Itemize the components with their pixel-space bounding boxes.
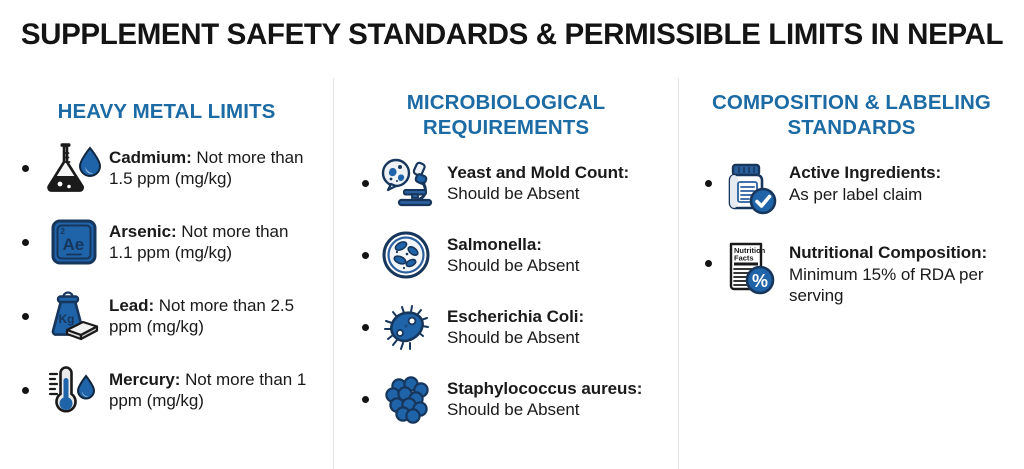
list-item: Staphylococcus aureus: Should be Absent (334, 373, 678, 425)
bullet-icon (22, 313, 29, 320)
list-item-value: Minimum 15% of RDA per serving (789, 265, 983, 306)
bullet-icon (22, 387, 29, 394)
list-item: Escherichia Coli: Should be Absent (334, 301, 678, 353)
list-item-label: Arsenic: (109, 222, 177, 241)
list-item: Nutrition Facts % Nutrition (679, 238, 1024, 307)
nutrition-facts-line2-text: Facts (734, 254, 754, 263)
column-heading-heavy-metal-limits: HEAVY METAL LIMITS (0, 90, 333, 124)
weight-ingot-icon: Kg (40, 288, 102, 344)
arsenic-symbol-text: Ae (63, 235, 85, 254)
list-item-text: Salmonella: Should be Absent (447, 234, 661, 277)
list-item: Salmonella: Should be Absent (334, 229, 678, 281)
list-item-label: Cadmium: (109, 148, 192, 167)
list-item-value: Should be Absent (447, 400, 579, 419)
list-item: Active Ingredients: As per label claim (679, 158, 1024, 216)
page-title: SUPPLEMENT SAFETY STANDARDS & PERMISSIBL… (8, 18, 1017, 52)
bullet-icon (705, 260, 712, 267)
list-item-label: Salmonella: (447, 235, 542, 254)
list-item-value: Should be Absent (447, 328, 579, 347)
bullet-icon (362, 252, 369, 259)
list-item-label: Mercury: (109, 370, 180, 389)
list-item: Cadmium: Not more than 1.5 ppm (mg/kg) (0, 140, 333, 196)
list-item: Mercury: Not more than 1 ppm (mg/kg) (0, 362, 333, 418)
ecoli-bacterium-icon (379, 301, 439, 353)
weight-unit-text: Kg (59, 312, 75, 326)
column-heading-composition-labeling-standards: COMPOSITION & LABELING STANDARDS (679, 90, 1024, 140)
list-item-text: Arsenic: Not more than 1.1 ppm (mg/kg) (109, 221, 315, 264)
composition-list: Active Ingredients: As per label claim N… (679, 158, 1024, 307)
list-item-label: Staphylococcus aureus: (447, 379, 642, 398)
column-microbiological-requirements: MICROBIOLOGICAL REQUIREMENTS (333, 78, 678, 469)
microbiological-list: Yeast and Mold Count: Should be Absent (334, 157, 678, 425)
supplement-bottle-check-icon (722, 158, 780, 216)
list-item: Kg Lead: Not more than 2.5 ppm (mg/kg) (0, 288, 333, 344)
staphylococcus-cluster-icon (379, 373, 439, 425)
list-item-label: Active Ingredients: (789, 163, 941, 182)
bullet-icon (362, 396, 369, 403)
list-item-value: Should be Absent (447, 184, 579, 203)
flask-droplet-icon (40, 140, 102, 196)
bullet-icon (362, 180, 369, 187)
column-heading-microbiological-requirements: MICROBIOLOGICAL REQUIREMENTS (334, 90, 678, 140)
list-item: Yeast and Mold Count: Should be Absent (334, 157, 678, 209)
column-composition-labeling-standards: COMPOSITION & LABELING STANDARDS (678, 78, 1024, 469)
list-item-text: Mercury: Not more than 1 ppm (mg/kg) (109, 369, 315, 412)
bullet-icon (22, 165, 29, 172)
column-heavy-metal-limits: HEAVY METAL LIMITS (0, 78, 333, 469)
bullet-icon (705, 180, 712, 187)
list-item-text: Nutritional Composition: Minimum 15% of … (789, 238, 1005, 307)
percent-symbol-text: % (752, 271, 768, 291)
bullet-icon (22, 239, 29, 246)
bullet-icon (362, 324, 369, 331)
list-item-text: Escherichia Coli: Should be Absent (447, 306, 661, 349)
list-item-text: Active Ingredients: As per label claim (789, 158, 1005, 205)
list-item-text: Staphylococcus aureus: Should be Absent (447, 378, 661, 421)
heavy-metal-list: Cadmium: Not more than 1.5 ppm (mg/kg) 2… (0, 140, 333, 418)
list-item-label: Escherichia Coli: (447, 307, 584, 326)
list-item-value: Should be Absent (447, 256, 579, 275)
list-item: 2 Ae Arsenic: Not more than 1.1 ppm (mg/… (0, 214, 333, 270)
list-item-text: Cadmium: Not more than 1.5 ppm (mg/kg) (109, 147, 315, 190)
microscope-icon (379, 157, 439, 209)
list-item-text: Lead: Not more than 2.5 ppm (mg/kg) (109, 295, 315, 338)
thermometer-droplet-icon (40, 362, 102, 418)
nutrition-facts-percent-icon: Nutrition Facts % (722, 238, 780, 296)
columns-container: HEAVY METAL LIMITS (0, 78, 1024, 469)
list-item-label: Yeast and Mold Count: (447, 163, 629, 182)
list-item-value: As per label claim (789, 185, 922, 204)
infographic-page: SUPPLEMENT SAFETY STANDARDS & PERMISSIBL… (0, 0, 1024, 469)
arsenic-element-tile-icon: 2 Ae (40, 214, 102, 270)
list-item-text: Yeast and Mold Count: Should be Absent (447, 162, 661, 205)
petri-dish-bacteria-icon (379, 229, 439, 281)
list-item-label: Lead: (109, 296, 154, 315)
list-item-label: Nutritional Composition: (789, 243, 987, 262)
